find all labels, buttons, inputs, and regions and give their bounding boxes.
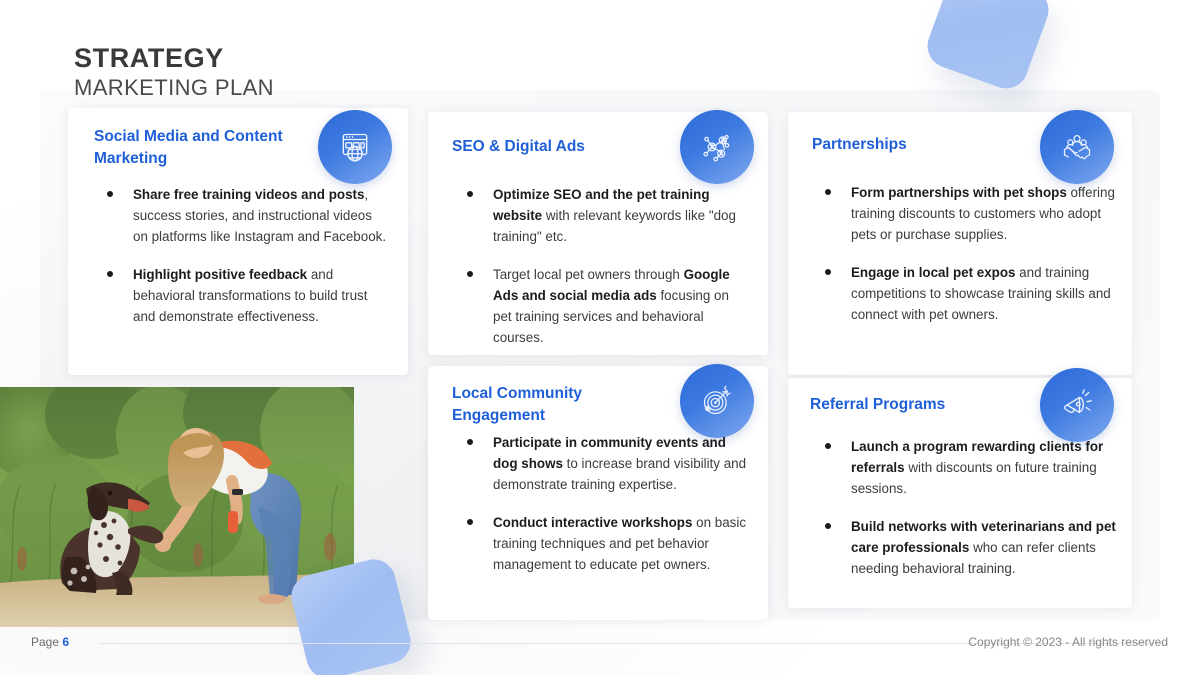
bullet-bold: Share free training videos and posts: [133, 187, 364, 202]
slide: STRATEGY MARKETING PLAN: [0, 0, 1200, 675]
list-item: Form partnerships with pet shops offerin…: [811, 182, 1116, 246]
list-item: Launch a program rewarding clients for r…: [811, 436, 1119, 500]
list-item: Conduct interactive workshops on basic t…: [453, 512, 753, 576]
bullet-list-referral-programs: Launch a program rewarding clients for r…: [811, 436, 1119, 579]
list-item: Build networks with veterinarians and pe…: [811, 516, 1119, 580]
card-referral-programs[interactable]: Referral Programs Launch a program rewar…: [788, 378, 1132, 608]
bullet-dot: [825, 523, 831, 529]
card-social-media[interactable]: Social Media and Content Marketing Shar: [68, 108, 408, 375]
card-title-partnerships: Partnerships: [812, 134, 1032, 156]
page-indicator: Page 6: [31, 635, 69, 649]
list-item: Optimize SEO and the pet training websit…: [453, 184, 748, 248]
bullet-list-partnerships: Form partnerships with pet shops offerin…: [811, 182, 1116, 325]
bullet-dot: [467, 191, 473, 197]
bullet-dot: [467, 271, 473, 277]
page-header: STRATEGY MARKETING PLAN: [74, 44, 274, 101]
rounded-square-top-right-decoration: [921, 0, 1054, 95]
card-partnerships[interactable]: Partnerships Form partnerships with pet: [788, 112, 1132, 375]
list-item: Target local pet owners through Google A…: [453, 264, 748, 349]
bullet-list-local-community-engagement: Participate in community events and dog …: [453, 432, 753, 575]
copyright-text: Copyright © 2023 - All rights reserved: [968, 635, 1168, 649]
bullet-bold: Engage in local pet expos: [851, 265, 1015, 280]
bullet-dot: [825, 269, 831, 275]
card-title-local-community-engagement: Local Community Engagement: [452, 383, 667, 427]
list-item: Participate in community events and dog …: [453, 432, 753, 496]
megaphone-icon: [1040, 368, 1114, 442]
page-label: Page: [31, 635, 59, 649]
handshake-people-icon: [1040, 110, 1114, 184]
bullet-dot: [467, 439, 473, 445]
card-title-social-media: Social Media and Content Marketing: [94, 126, 319, 170]
bullet-list-seo-digital-ads: Optimize SEO and the pet training websit…: [453, 184, 748, 348]
network-nodes-icon: [680, 110, 754, 184]
list-item: Share free training videos and posts, su…: [93, 184, 388, 248]
bullet-dot: [467, 519, 473, 525]
bullet-dot: [107, 271, 113, 277]
card-seo-digital-ads[interactable]: SEO & Digital Ads: [428, 112, 768, 355]
bullet-dot: [825, 189, 831, 195]
list-item: Highlight positive feedback and behavior…: [93, 264, 388, 328]
bullet-bold: Conduct interactive workshops: [493, 515, 692, 530]
bullet-list-social-media: Share free training videos and posts, su…: [93, 184, 388, 327]
browser-globe-icon: [318, 110, 392, 184]
page-subtitle: MARKETING PLAN: [74, 75, 274, 101]
card-title-referral-programs: Referral Programs: [810, 394, 1030, 416]
page-title: STRATEGY: [74, 44, 274, 72]
card-local-community-engagement[interactable]: Local Community Engagement Participate i…: [428, 366, 768, 620]
bullet-dot: [825, 443, 831, 449]
bullet-bold: Highlight positive feedback: [133, 267, 307, 282]
bullet-bold: Form partnerships with pet shops: [851, 185, 1067, 200]
list-item: Engage in local pet expos and training c…: [811, 262, 1116, 326]
bullet-text: Target local pet owners through: [493, 267, 684, 282]
bullet-dot: [107, 191, 113, 197]
target-arrow-icon: [680, 364, 754, 438]
card-title-seo-digital-ads: SEO & Digital Ads: [452, 136, 672, 158]
page-number: 6: [62, 635, 69, 649]
